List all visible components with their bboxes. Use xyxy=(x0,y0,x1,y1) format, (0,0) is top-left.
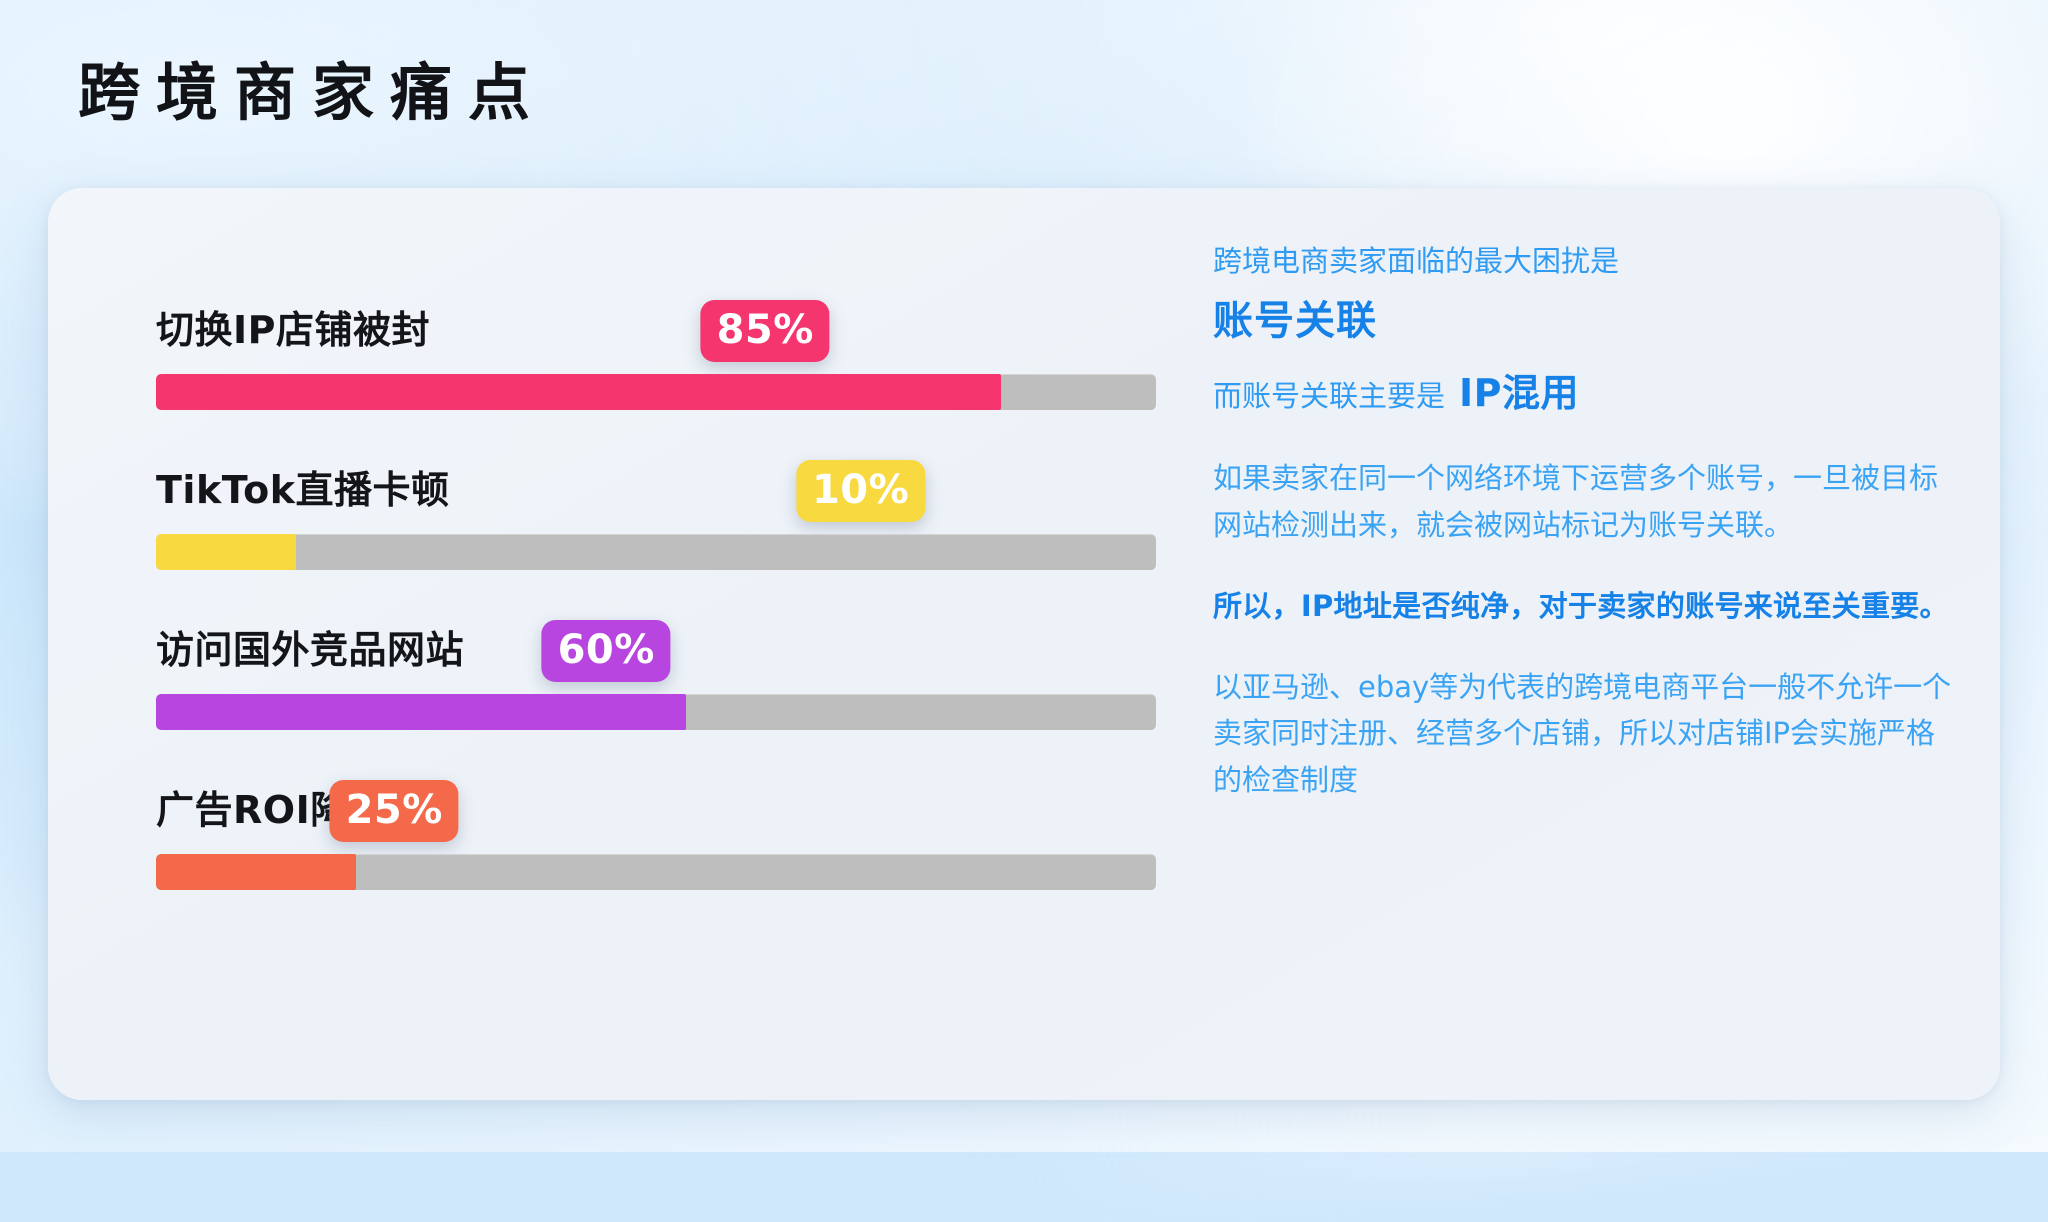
bar-row: 访问国外竞品网站 60% xyxy=(108,590,1168,750)
copy-sub-strong: IP混用 xyxy=(1459,366,1579,421)
bar-label: 访问国外竞品网站 xyxy=(156,619,464,674)
bar-track xyxy=(156,374,1156,410)
bar-label: TikTok直播卡顿 xyxy=(156,459,449,514)
bar-value-badge: 60% xyxy=(542,620,671,682)
bar-header: 访问国外竞品网站 60% xyxy=(108,590,1168,686)
bar-fill xyxy=(156,854,356,890)
explanation-panel: 跨境电商卖家面临的最大困扰是 账号关联 而账号关联主要是 IP混用 如果卖家在同… xyxy=(1213,240,1953,804)
bar-row: TikTok直播卡顿 10% xyxy=(108,430,1168,590)
bar-row: 切换IP店铺被封 85% xyxy=(108,270,1168,430)
bar-row: 广告ROI降低 25% xyxy=(108,750,1168,910)
copy-paragraph-3: 以亚马逊、ebay等为代表的跨境电商平台一般不允许一个卖家同时注册、经营多个店铺… xyxy=(1213,664,1953,805)
bar-header: 广告ROI降低 25% xyxy=(108,750,1168,846)
content-card: 切换IP店铺被封 85% TikTok直播卡顿 10% 访问国外竞品网站 60% xyxy=(48,188,2000,1100)
bar-track xyxy=(156,694,1156,730)
bar-header: TikTok直播卡顿 10% xyxy=(108,430,1168,526)
bar-value-badge: 85% xyxy=(701,300,830,362)
copy-keyword: 账号关联 xyxy=(1213,292,1953,350)
bar-value-badge: 10% xyxy=(796,460,925,522)
pain-point-bar-chart: 切换IP店铺被封 85% TikTok直播卡顿 10% 访问国外竞品网站 60% xyxy=(108,260,1168,910)
bar-fill xyxy=(156,534,296,570)
page-title: 跨境商家痛点 xyxy=(78,62,546,124)
bar-fill xyxy=(156,694,686,730)
bar-value-badge: 25% xyxy=(330,780,459,842)
bar-fill xyxy=(156,374,1001,410)
copy-lead: 跨境电商卖家面临的最大困扰是 xyxy=(1213,240,1953,284)
bar-track xyxy=(156,854,1156,890)
copy-sub-prefix: 而账号关联主要是 xyxy=(1213,375,1445,417)
bar-header: 切换IP店铺被封 85% xyxy=(108,270,1168,366)
copy-subline: 而账号关联主要是 IP混用 xyxy=(1213,366,1953,421)
bar-track xyxy=(156,534,1156,570)
copy-paragraph-2: 所以，IP地址是否纯净，对于卖家的账号来说至关重要。 xyxy=(1213,583,1953,630)
copy-paragraph-1: 如果卖家在同一个网络环境下运营多个账号，一旦被目标网站检测出来，就会被网站标记为… xyxy=(1213,455,1953,549)
bar-label: 切换IP店铺被封 xyxy=(156,299,430,354)
